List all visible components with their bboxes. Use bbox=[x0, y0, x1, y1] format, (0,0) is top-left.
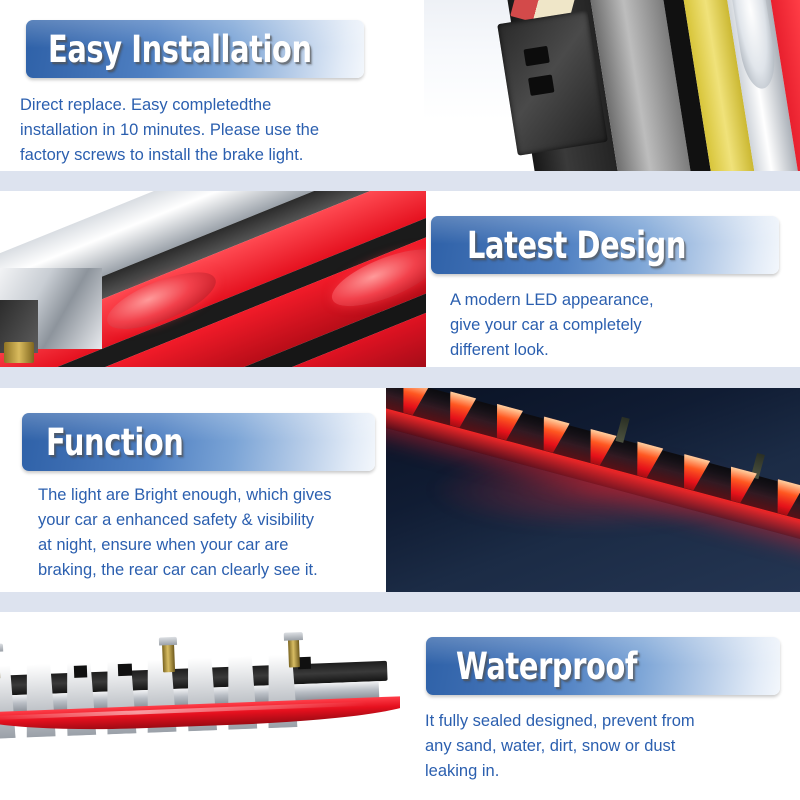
banner-function: Function bbox=[22, 413, 375, 471]
heading-latest-design: Latest Design bbox=[467, 227, 686, 264]
side-profile-photo bbox=[0, 612, 400, 800]
body-easy-installation: Direct replace. Easy completedthe instal… bbox=[20, 93, 420, 168]
red-lens-closeup-photo bbox=[0, 191, 426, 367]
banner-waterproof: Waterproof bbox=[426, 637, 780, 695]
illuminated-led-night-photo bbox=[386, 388, 800, 592]
section-waterproof: Waterproof It fully sealed designed, pre… bbox=[0, 612, 800, 800]
section-easy-installation: Easy Installation Direct replace. Easy c… bbox=[0, 0, 800, 171]
section-function: Function The light are Bright enough, wh… bbox=[0, 388, 800, 592]
divider-3 bbox=[0, 592, 800, 612]
body-latest-design: A modern LED appearance, give your car a… bbox=[450, 288, 790, 363]
heading-function: Function bbox=[46, 424, 183, 461]
divider-1 bbox=[0, 171, 800, 191]
section-latest-design: Latest Design A modern LED appearance, g… bbox=[0, 191, 800, 367]
heading-waterproof: Waterproof bbox=[456, 648, 637, 685]
heading-easy-installation: Easy Installation bbox=[48, 31, 312, 68]
body-waterproof: It fully sealed designed, prevent from a… bbox=[425, 709, 785, 784]
divider-2 bbox=[0, 367, 800, 388]
banner-latest-design: Latest Design bbox=[431, 216, 779, 274]
banner-easy-installation: Easy Installation bbox=[26, 20, 364, 78]
body-function: The light are Bright enough, which gives… bbox=[38, 483, 398, 583]
product-feature-infographic: Easy Installation Direct replace. Easy c… bbox=[0, 0, 800, 800]
brake-light-connector-photo bbox=[424, 0, 800, 171]
